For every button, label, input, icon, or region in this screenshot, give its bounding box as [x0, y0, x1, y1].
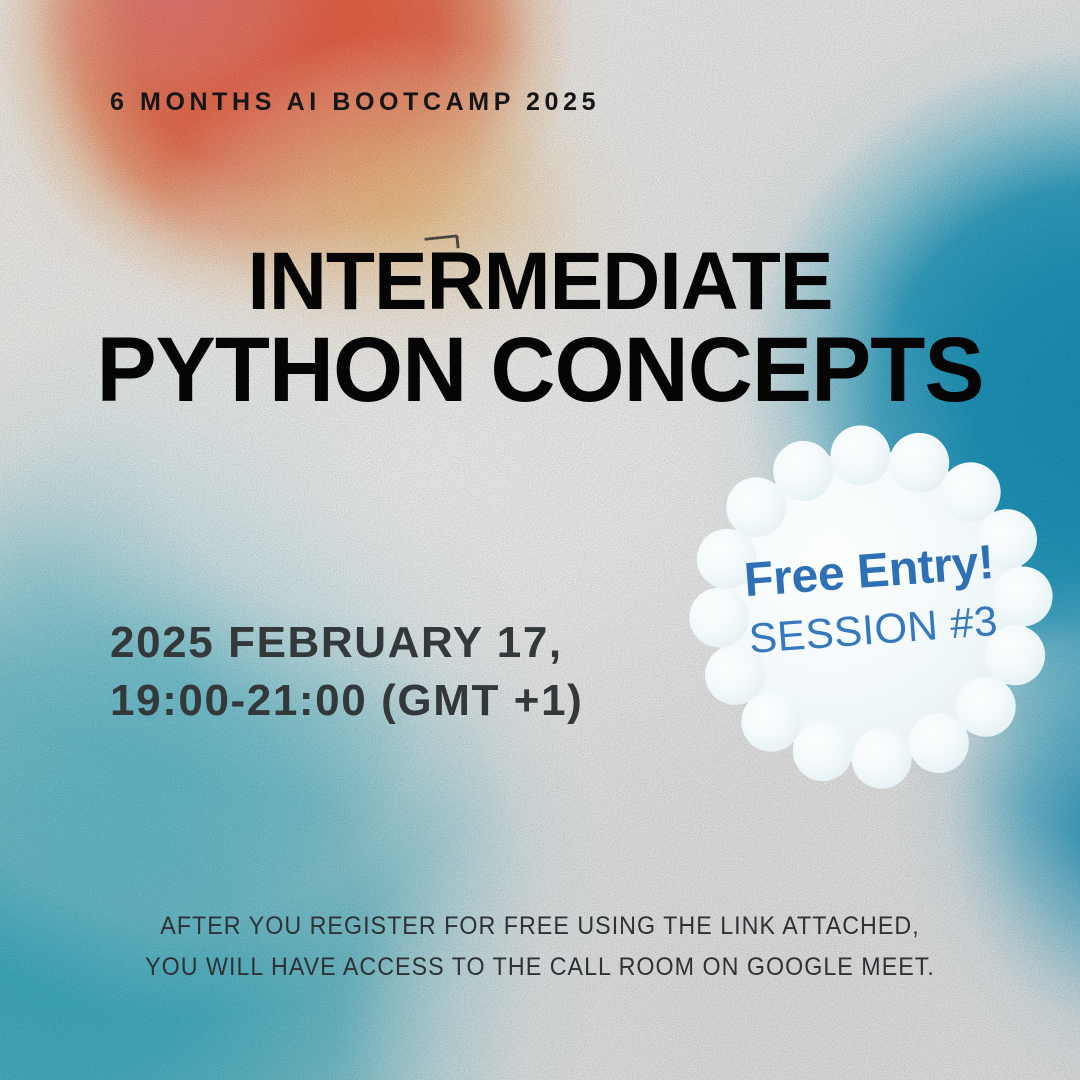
event-date: 2025 FEBRUARY 17, [110, 614, 583, 672]
poster-canvas: 6 MONTHS AI BOOTCAMP 2025 INTERMEDIATE P… [0, 0, 1080, 1080]
registration-note-line-2: YOU WILL HAVE ACCESS TO THE CALL ROOM ON… [38, 947, 1042, 988]
event-time: 19:00-21:00 (GMT +1) [110, 672, 583, 730]
headline-line-1: INTERMEDIATE [11, 242, 1069, 322]
registration-note: AFTER YOU REGISTER FOR FREE USING THE LI… [38, 906, 1042, 987]
registration-note-line-1: AFTER YOU REGISTER FOR FREE USING THE LI… [38, 906, 1042, 947]
headline-line-2: PYTHON CONCEPTS [11, 326, 1069, 415]
page-title: INTERMEDIATE PYTHON CONCEPTS [11, 242, 1069, 415]
event-datetime: 2025 FEBRUARY 17, 19:00-21:00 (GMT +1) [110, 614, 583, 730]
kicker-text: 6 MONTHS AI BOOTCAMP 2025 [110, 88, 600, 117]
free-entry-badge: Free Entry! SESSION #3 [688, 424, 1054, 790]
